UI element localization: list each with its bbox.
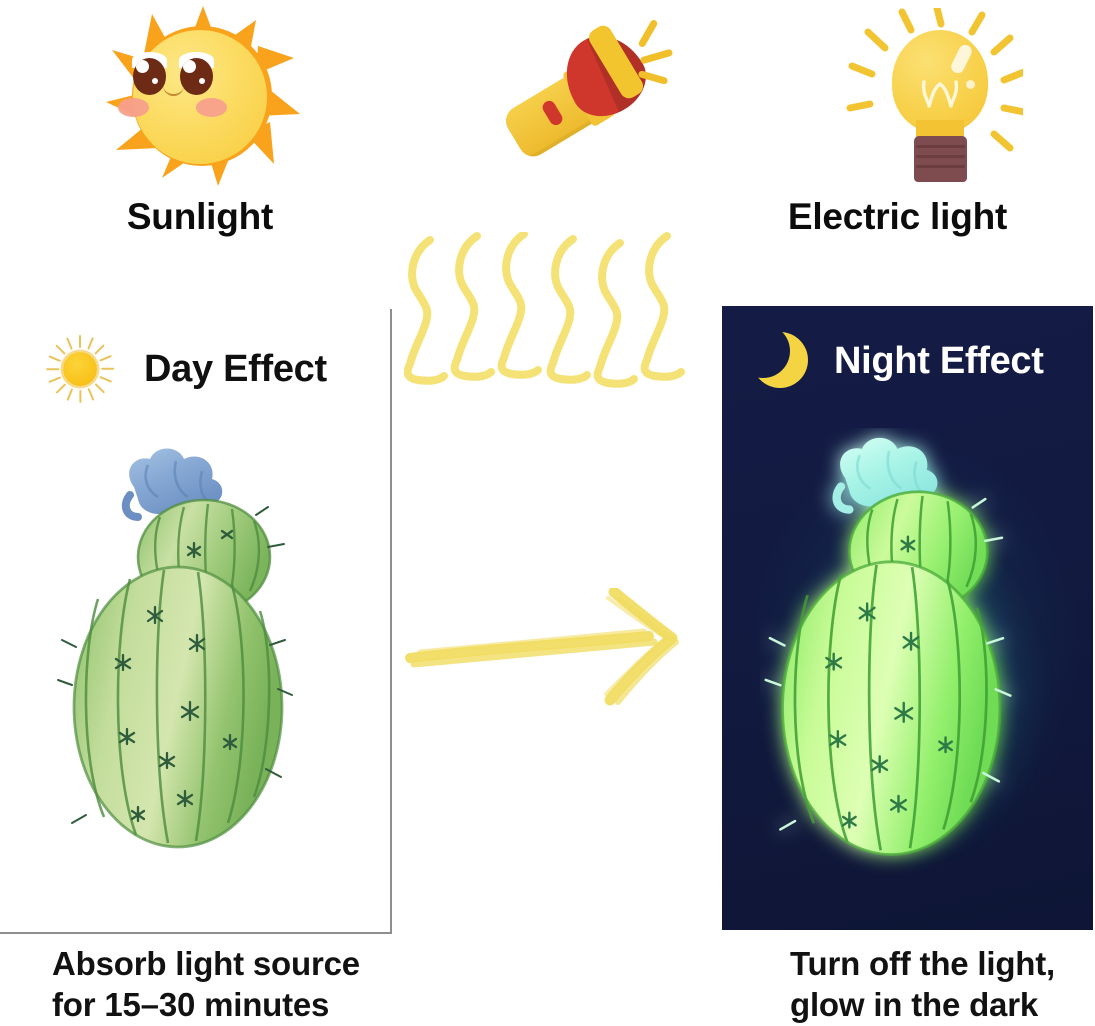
night-effect-header: Night Effect xyxy=(750,330,1044,392)
night-effect-title: Night Effect xyxy=(834,340,1044,383)
bulb-highlight-dot xyxy=(966,80,975,89)
day-effect-caption: Absorb light source for 15–30 minutes xyxy=(52,944,360,1026)
bulb-base xyxy=(914,136,967,182)
electric-light-label: Electric light xyxy=(700,196,1095,238)
infographic-stage: Sunlight xyxy=(0,0,1095,1025)
bulb-filament xyxy=(920,80,960,108)
sun-eye-right xyxy=(180,58,213,95)
glowing-cactus-shape xyxy=(760,428,1060,888)
day-cactus-illustration xyxy=(56,439,336,879)
night-effect-panel: Night Effect xyxy=(722,306,1093,930)
day-effect-panel: Day Effect xyxy=(0,309,392,934)
light-rays-icon xyxy=(404,232,694,412)
sun-icon xyxy=(106,6,301,186)
flashlight-icon xyxy=(492,16,672,176)
flashlight-ray-1 xyxy=(637,19,658,48)
bulb-icon xyxy=(838,8,1023,188)
sun-blush-left xyxy=(118,98,149,117)
sun-eye-left xyxy=(133,58,166,95)
sun-blush-right xyxy=(196,98,227,117)
sun-face xyxy=(133,30,267,164)
night-effect-caption: Turn off the light, glow in the dark xyxy=(790,944,1055,1026)
crescent-moon-icon xyxy=(750,330,812,392)
cactus-shape xyxy=(56,439,336,879)
night-cactus-illustration xyxy=(760,428,1060,888)
transition-arrow-icon xyxy=(404,588,704,708)
flashlight-ray-2 xyxy=(640,49,674,65)
small-sun-icon xyxy=(44,333,116,405)
day-effect-title: Day Effect xyxy=(144,348,327,391)
sunlight-label: Sunlight xyxy=(0,196,400,238)
day-effect-header: Day Effect xyxy=(44,333,327,405)
